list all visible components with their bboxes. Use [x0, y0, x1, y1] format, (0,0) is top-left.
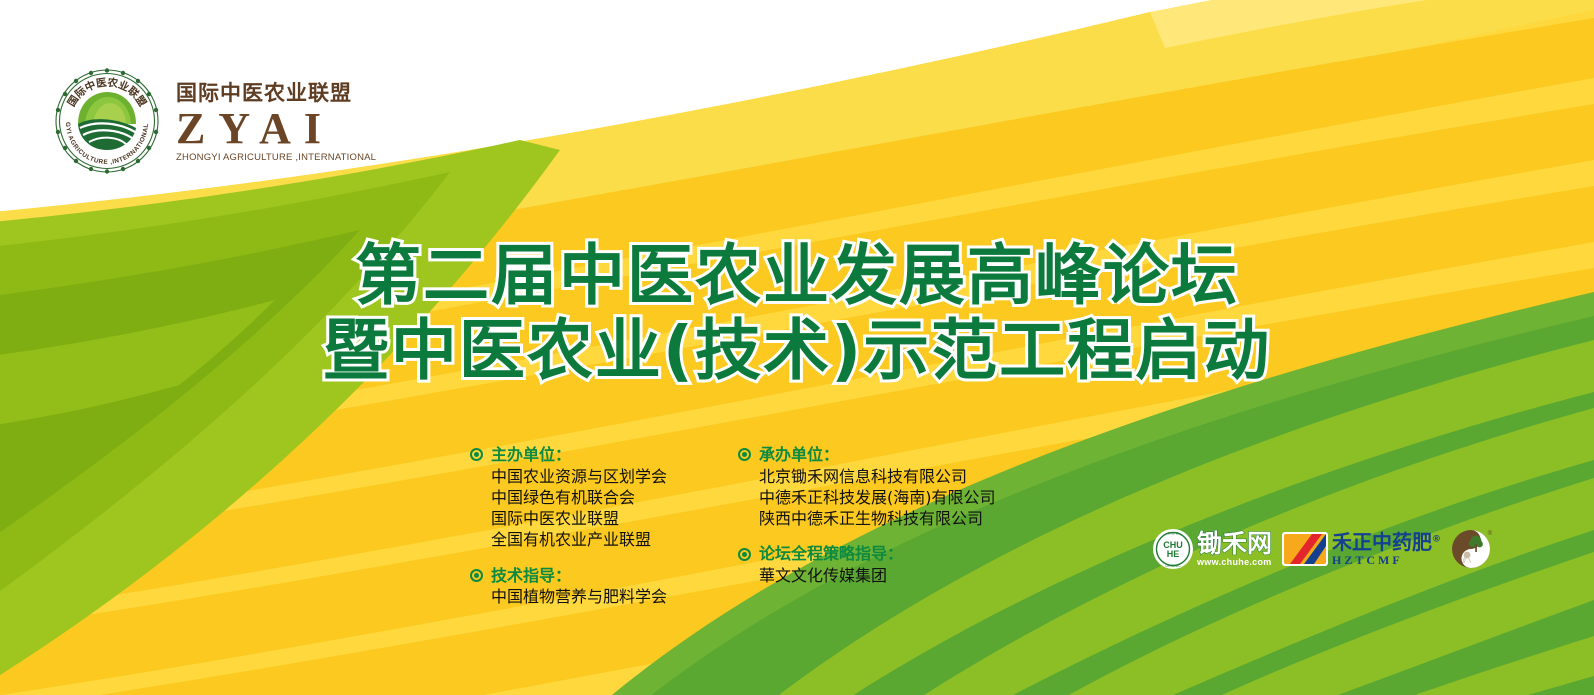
logo-org-name-cn: 国际中医农业联盟 [176, 83, 376, 104]
bullet-icon [470, 448, 483, 461]
tree-emblem-trademark-icon: ® [1488, 530, 1493, 537]
co-organizer-group: 承办单位： 北京锄禾网信息科技有限公司 中德禾正科技发展(海南)有限公司 陕西中… [738, 444, 1038, 529]
organizer-heading-row: 主办单位： [470, 444, 738, 466]
hztcmf-name-cn-text: 禾正中药肥 [1332, 530, 1432, 554]
technical-guidance-item: 中国植物营养与肥料学会 [491, 586, 738, 607]
hztcmf-trademark-icon: ® [1432, 534, 1441, 544]
organizer-heading-label: 主办单位： [491, 444, 571, 466]
organizer-group: 主办单位： 中国农业资源与区划学会 中国绿色有机联合会 国际中医农业联盟 全国有… [470, 444, 738, 551]
strategic-guidance-item: 華文文化传媒集团 [759, 565, 1038, 586]
chuhe-url: www.chuhe.com [1197, 558, 1272, 567]
zyai-logo-lockup: 国际中医农业联盟 ZHONGYI AGRICULTURE ,INTERNATIO… [52, 66, 376, 176]
hztcmf-name-cn: 禾正中药肥® [1332, 532, 1441, 552]
organizer-item: 中国绿色有机联合会 [491, 487, 738, 508]
strategic-guidance-heading-row: 论坛全程策略指导： [738, 543, 1038, 565]
co-organizer-item: 北京锄禾网信息科技有限公司 [759, 466, 1038, 487]
svg-text:ORGANIC: ORGANIC [1166, 564, 1182, 568]
poster-title: 第二届中医农业发展高峰论坛 暨中医农业(技术)示范工程启动 [0, 238, 1594, 388]
technical-guidance-heading-label: 技术指导： [491, 565, 571, 587]
title-line-2: 暨中医农业(技术)示范工程启动 [0, 313, 1594, 388]
sponsor-chuhe: CHU HE CHUHE ORGANIC 锄禾网 www.chuhe.com [1152, 528, 1272, 570]
poster-canvas: 国际中医农业联盟 ZHONGYI AGRICULTURE ,INTERNATIO… [0, 0, 1594, 695]
svg-text:CHUHE: CHUHE [1167, 532, 1178, 536]
organizer-item: 中国农业资源与区划学会 [491, 466, 738, 487]
strategic-guidance-group: 论坛全程策略指导： 華文文化传媒集团 [738, 543, 1038, 586]
co-organizer-item: 陕西中德禾正生物科技有限公司 [759, 508, 1038, 529]
organization-lists: 主办单位： 中国农业资源与区划学会 中国绿色有机联合会 国际中医农业联盟 全国有… [470, 444, 1038, 622]
technical-guidance-heading-row: 技术指导： [470, 565, 738, 587]
title-line-1: 第二届中医农业发展高峰论坛 [0, 238, 1594, 313]
logo-org-abbr: ZYAI [176, 106, 376, 152]
sponsor-logo-row: CHU HE CHUHE ORGANIC 锄禾网 www.chuhe.com [1152, 528, 1493, 570]
sponsor-tree-emblem: ® [1451, 528, 1493, 570]
svg-text:HE: HE [1167, 549, 1180, 559]
bullet-icon [470, 569, 483, 582]
organizer-item: 全国有机农业产业联盟 [491, 529, 738, 550]
zyai-circular-emblem-icon: 国际中医农业联盟 ZHONGYI AGRICULTURE ,INTERNATIO… [52, 66, 162, 176]
bullet-icon [738, 448, 751, 461]
co-organizer-heading-row: 承办单位： [738, 444, 1038, 466]
co-organizer-heading-label: 承办单位： [759, 444, 839, 466]
organizers-column: 主办单位： 中国农业资源与区划学会 中国绿色有机联合会 国际中医农业联盟 全国有… [470, 444, 738, 622]
chuhe-circle-logo-icon: CHU HE CHUHE ORGANIC [1152, 528, 1194, 570]
chuhe-name-cn: 锄禾网 [1197, 531, 1272, 556]
hztcmf-name-en: HZTCMF [1332, 554, 1441, 566]
strategic-guidance-heading-label: 论坛全程策略指导： [759, 543, 903, 565]
bullet-icon [738, 548, 751, 561]
organizer-item: 国际中医农业联盟 [491, 508, 738, 529]
tree-yinyang-circle-logo-icon: ® [1451, 528, 1493, 570]
co-organizers-column: 承办单位： 北京锄禾网信息科技有限公司 中德禾正科技发展(海南)有限公司 陕西中… [738, 444, 1038, 622]
sponsor-hztcmf: 禾正中药肥® HZTCMF [1282, 532, 1441, 566]
hzt-z-mark-icon [1282, 532, 1328, 566]
co-organizer-item: 中德禾正科技发展(海南)有限公司 [759, 487, 1038, 508]
technical-guidance-group: 技术指导： 中国植物营养与肥料学会 [470, 565, 738, 608]
logo-org-name-en: ZHONGYI AGRICULTURE ,INTERNATIONAL [176, 153, 376, 163]
